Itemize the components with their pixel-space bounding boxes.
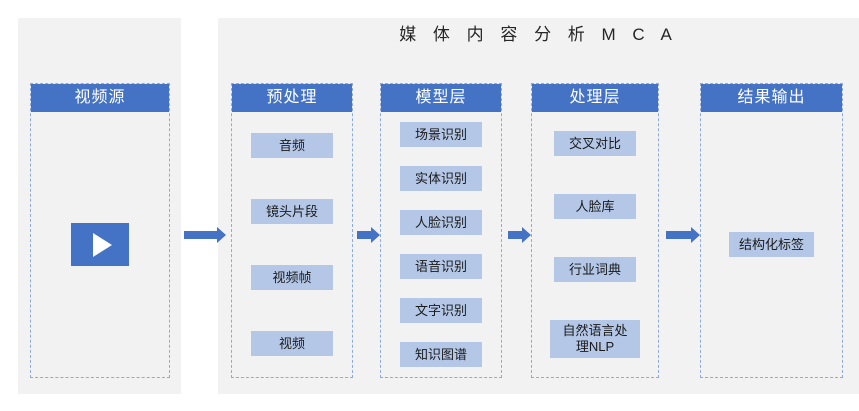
arrow-head bbox=[691, 227, 700, 243]
arrow-shaft bbox=[357, 231, 371, 239]
list-item[interactable]: 人脸库 bbox=[554, 194, 636, 219]
column-body-process-layer: 交叉对比 人脸库 行业词典 自然语言处理NLP bbox=[532, 112, 658, 377]
column-header-video-source: 视频源 bbox=[31, 84, 169, 112]
arrow-model-to-process bbox=[508, 227, 531, 243]
column-process-layer: 处理层 交叉对比 人脸库 行业词典 自然语言处理NLP bbox=[531, 83, 659, 378]
arrow-head bbox=[371, 227, 380, 243]
column-result-output: 结果输出 结构化标签 bbox=[700, 83, 843, 378]
column-video-source: 视频源 bbox=[30, 83, 170, 378]
column-model-layer: 模型层 场景识别 实体识别 人脸识别 语音识别 文字识别 知识图谱 bbox=[380, 83, 502, 378]
arrow-head bbox=[522, 227, 531, 243]
list-item[interactable]: 人脸识别 bbox=[400, 210, 482, 235]
arrow-shaft bbox=[508, 231, 522, 239]
list-item[interactable]: 音频 bbox=[251, 133, 333, 158]
diagram-canvas: 媒 体 内 容 分 析 M C A 视频源 预处理 音频 镜头片段 视频帧 视频… bbox=[0, 0, 859, 411]
column-header-preprocess: 预处理 bbox=[232, 84, 352, 112]
arrow-preprocess-to-model bbox=[357, 227, 380, 243]
column-header-result-output: 结果输出 bbox=[701, 84, 842, 112]
list-item[interactable]: 自然语言处理NLP bbox=[550, 320, 640, 358]
page-title: 媒 体 内 容 分 析 M C A bbox=[218, 22, 859, 48]
list-item[interactable]: 视频帧 bbox=[251, 265, 333, 290]
arrow-process-to-output bbox=[666, 227, 700, 243]
arrow-shaft bbox=[666, 231, 691, 239]
play-triangle-icon bbox=[93, 233, 112, 257]
list-item[interactable]: 交叉对比 bbox=[554, 131, 636, 156]
list-item[interactable]: 结构化标签 bbox=[729, 232, 814, 257]
column-body-result-output: 结构化标签 bbox=[701, 112, 842, 377]
column-body-preprocess: 音频 镜头片段 视频帧 视频 bbox=[232, 112, 352, 377]
list-item[interactable]: 语音识别 bbox=[400, 254, 482, 279]
play-icon[interactable] bbox=[71, 223, 129, 266]
column-header-process-layer: 处理层 bbox=[532, 84, 658, 112]
list-item[interactable]: 场景识别 bbox=[400, 122, 482, 147]
arrow-shaft bbox=[184, 231, 217, 239]
column-body-video-source bbox=[31, 112, 169, 377]
column-body-model-layer: 场景识别 实体识别 人脸识别 语音识别 文字识别 知识图谱 bbox=[381, 112, 501, 377]
column-header-model-layer: 模型层 bbox=[381, 84, 501, 112]
column-preprocess: 预处理 音频 镜头片段 视频帧 视频 bbox=[231, 83, 353, 378]
list-item[interactable]: 视频 bbox=[251, 331, 333, 356]
arrow-source-to-preprocess bbox=[184, 227, 226, 243]
list-item[interactable]: 知识图谱 bbox=[400, 342, 482, 367]
arrow-head bbox=[217, 227, 226, 243]
list-item[interactable]: 行业词典 bbox=[554, 257, 636, 282]
list-item[interactable]: 实体识别 bbox=[400, 166, 482, 191]
list-item[interactable]: 文字识别 bbox=[400, 298, 482, 323]
list-item[interactable]: 镜头片段 bbox=[251, 199, 333, 224]
